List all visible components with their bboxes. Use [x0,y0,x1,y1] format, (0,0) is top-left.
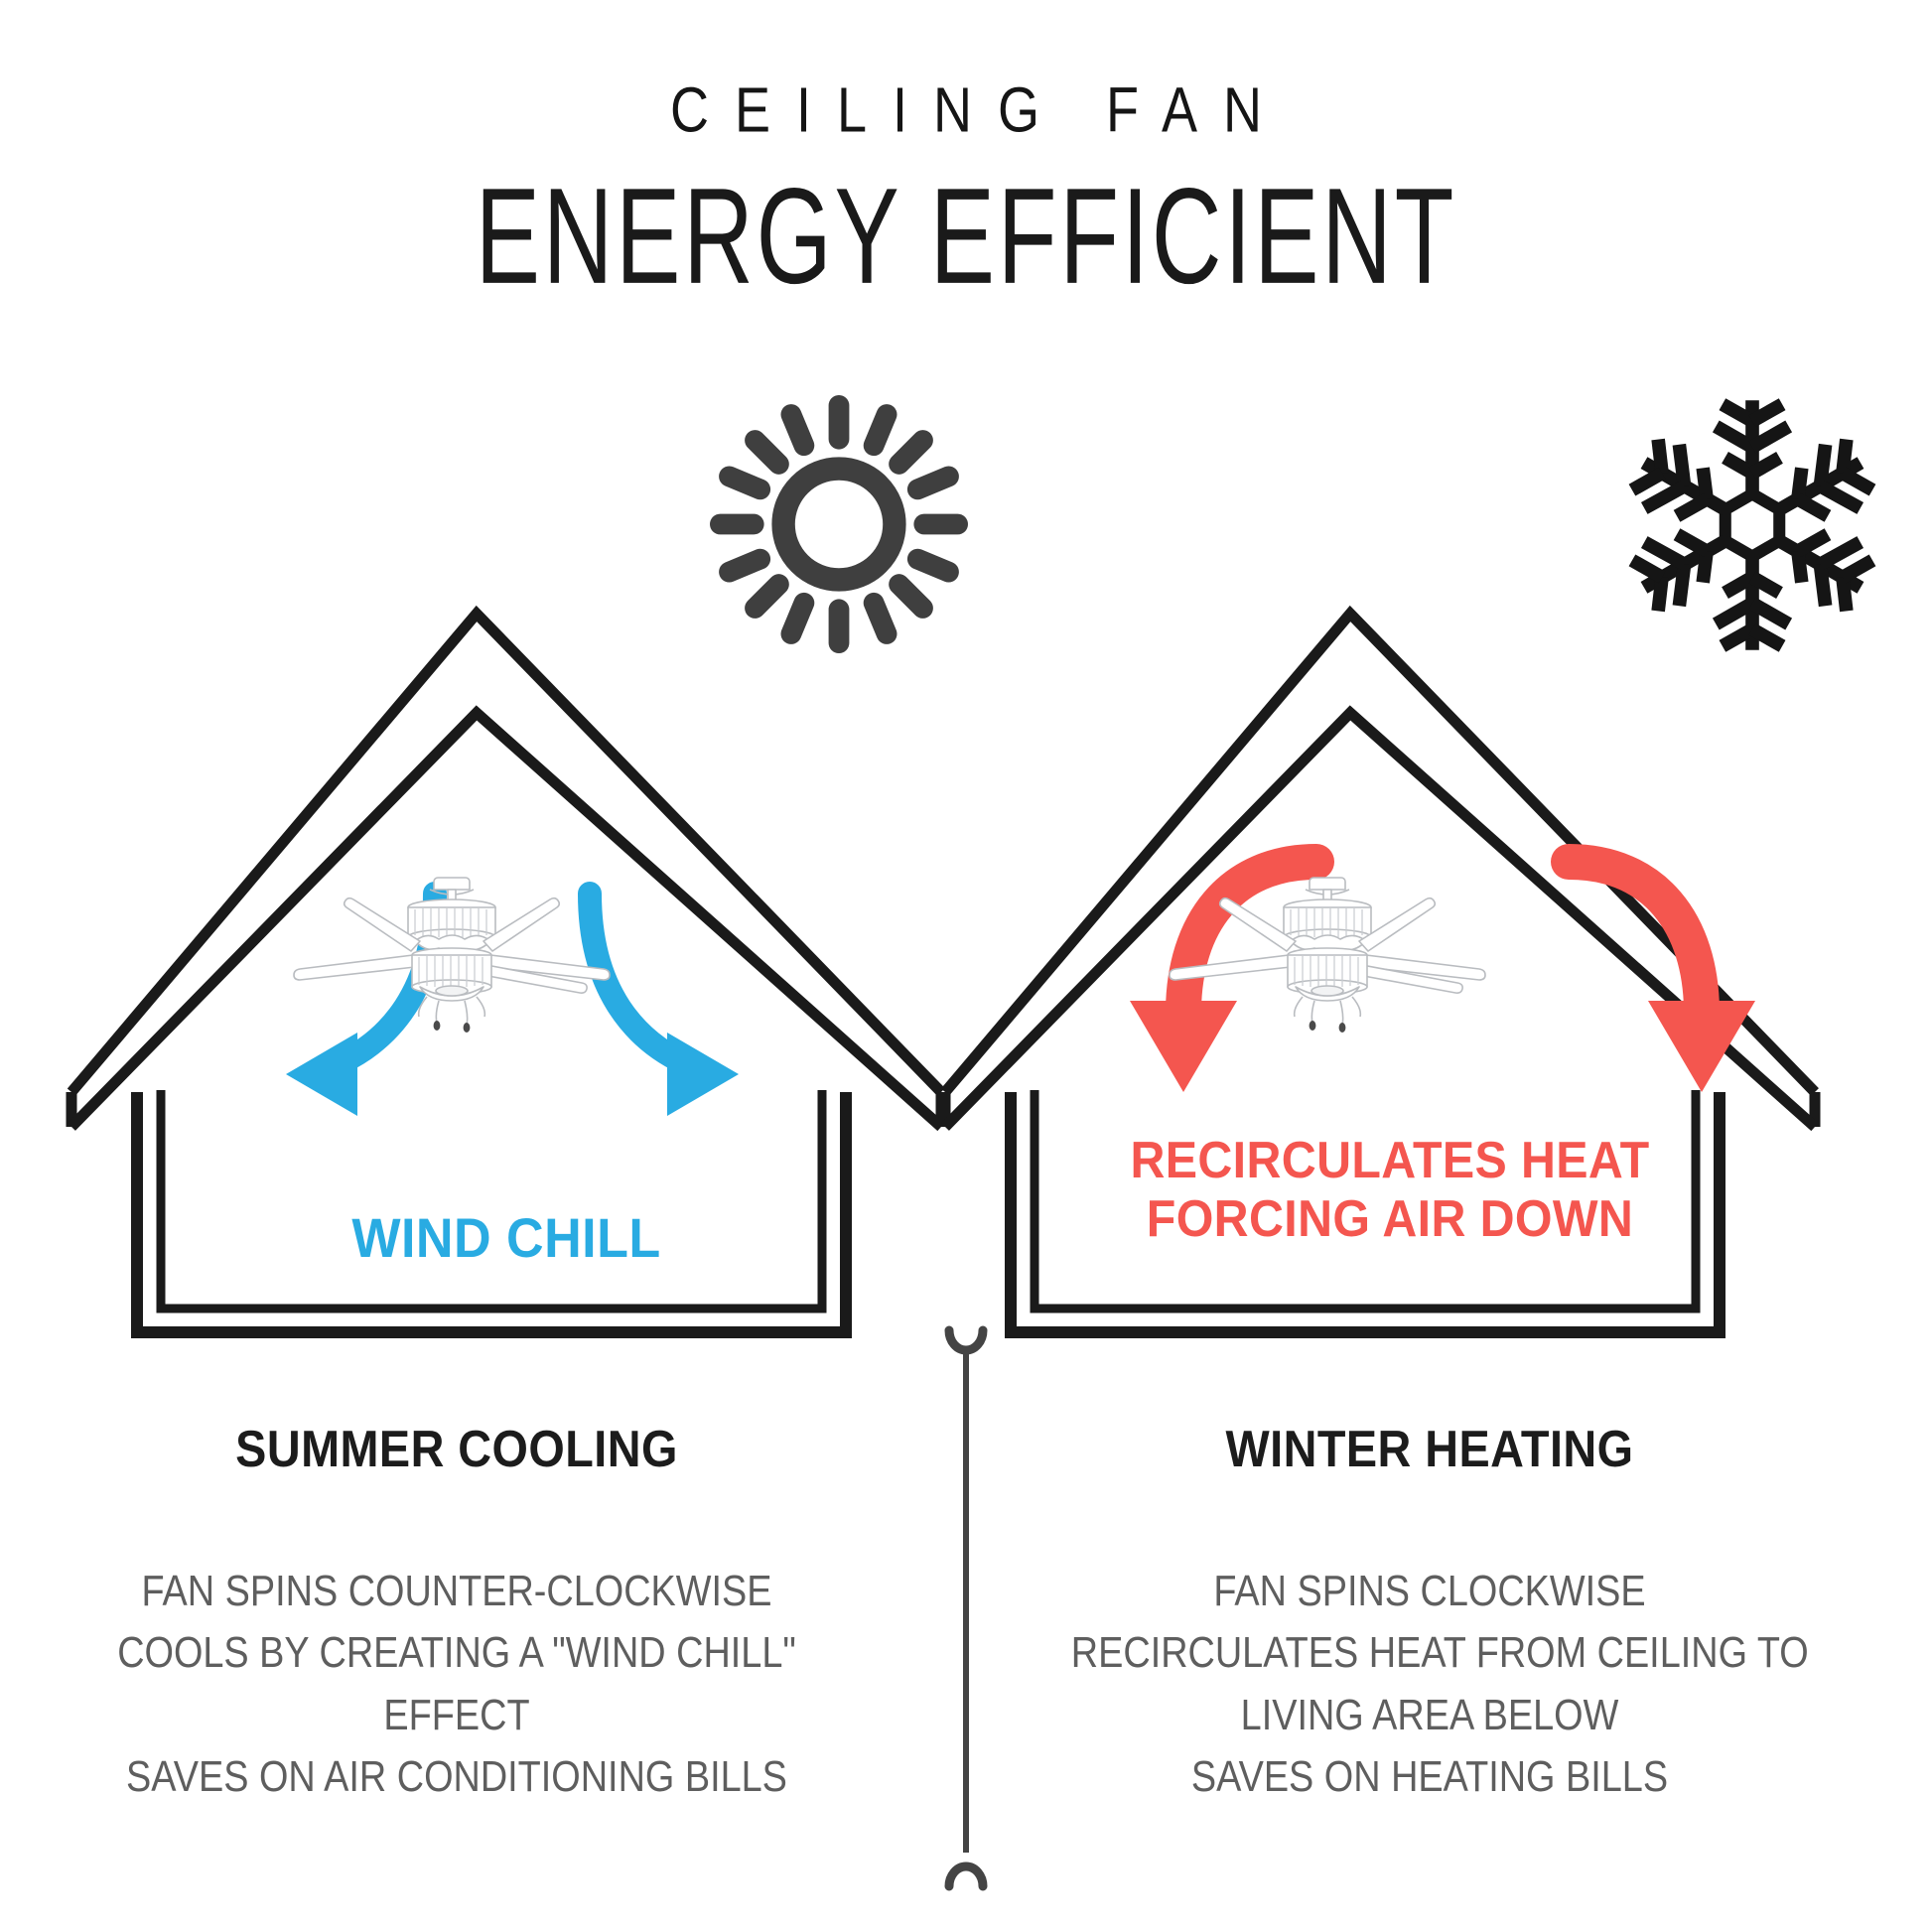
ceiling-fan-icon [288,872,616,1040]
page-title: ENERGY EFFICIENT [58,169,1873,305]
summer-body-line-4: SAVES ON AIR CONDITIONING BILLS [98,1746,815,1808]
recirculates-heat-line-2: FORCING AIR DOWN [1021,1190,1759,1249]
winter-body-line-4: SAVES ON HEATING BILLS [1071,1746,1788,1808]
recirculates-heat-label: RECIRCULATES HEAT FORCING AIR DOWN [1021,1132,1759,1250]
winter-body-line-2: RECIRCULATES HEAT FROM CEILING TO [1071,1622,1788,1684]
winter-body: FAN SPINS CLOCKWISE RECIRCULATES HEAT FR… [1071,1561,1788,1809]
summer-body-line-3: EFFECT [98,1685,815,1746]
summer-caption-block: SUMMER COOLING FAN SPINS COUNTER-CLOCKWI… [40,1420,874,1809]
summer-body: FAN SPINS COUNTER-CLOCKWISE COOLS BY CRE… [98,1561,815,1809]
wind-chill-label: WIND CHILL [202,1206,811,1270]
summer-body-line-2: COOLS BY CREATING A "WIND CHILL" [98,1622,815,1684]
ceiling-fan-icon [1164,872,1491,1040]
vertical-divider [931,1320,1001,1896]
winter-body-line-3: LIVING AREA BELOW [1071,1685,1788,1746]
recirculates-heat-line-1: RECIRCULATES HEAT [1021,1132,1759,1190]
page-kicker: CEILING FAN [0,77,1932,144]
summer-heading: SUMMER COOLING [81,1420,832,1479]
infographic-canvas: CEILING FAN ENERGY EFFICIENT [0,0,1932,1932]
winter-caption-block: WINTER HEATING FAN SPINS CLOCKWISE RECIR… [1013,1420,1847,1809]
summer-body-line-1: FAN SPINS COUNTER-CLOCKWISE [98,1561,815,1622]
winter-heading: WINTER HEATING [1054,1420,1805,1479]
winter-body-line-1: FAN SPINS CLOCKWISE [1071,1561,1788,1622]
